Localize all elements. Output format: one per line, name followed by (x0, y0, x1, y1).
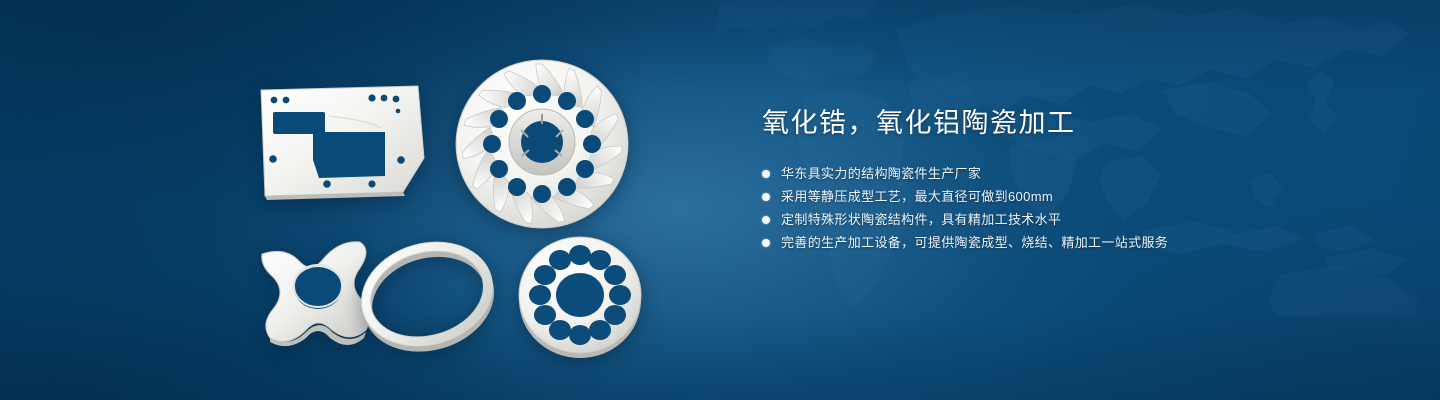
bullet-dot-icon (762, 239, 770, 247)
feature-list: 华东具实力的结构陶瓷件生产厂家 采用等静压成型工艺，最大直径可做到600mm 定… (762, 162, 1372, 254)
bullet-dot-icon (762, 193, 770, 201)
feature-text: 华东具实力的结构陶瓷件生产厂家 (781, 162, 981, 185)
ceramic-perforated-disc (516, 228, 644, 363)
bullet-dot-icon (762, 170, 770, 178)
banner-headline: 氧化锆，氧化铝陶瓷加工 (762, 106, 1372, 140)
ceramic-impeller (452, 52, 632, 234)
feature-item: 定制特殊形状陶瓷结构件，具有精加工技术水平 (762, 208, 1372, 231)
ceramic-ring (352, 232, 502, 357)
banner-copy: 氧化锆，氧化铝陶瓷加工 华东具实力的结构陶瓷件生产厂家 采用等静压成型工艺，最大… (762, 106, 1372, 254)
feature-item: 采用等静压成型工艺，最大直径可做到600mm (762, 185, 1372, 208)
feature-text: 定制特殊形状陶瓷结构件，具有精加工技术水平 (781, 208, 1061, 231)
feature-item: 完善的生产加工设备，可提供陶瓷成型、烧结、精加工一站式服务 (762, 231, 1372, 254)
feature-text: 完善的生产加工设备，可提供陶瓷成型、烧结、精加工一站式服务 (781, 231, 1168, 254)
hero-banner: 氧化锆，氧化铝陶瓷加工 华东具实力的结构陶瓷件生产厂家 采用等静压成型工艺，最大… (0, 0, 1440, 400)
feature-item: 华东具实力的结构陶瓷件生产厂家 (762, 162, 1372, 185)
product-image-group (0, 0, 760, 400)
feature-text: 采用等静压成型工艺，最大直径可做到600mm (781, 185, 1053, 208)
ceramic-plate (255, 80, 430, 200)
bullet-dot-icon (762, 216, 770, 224)
